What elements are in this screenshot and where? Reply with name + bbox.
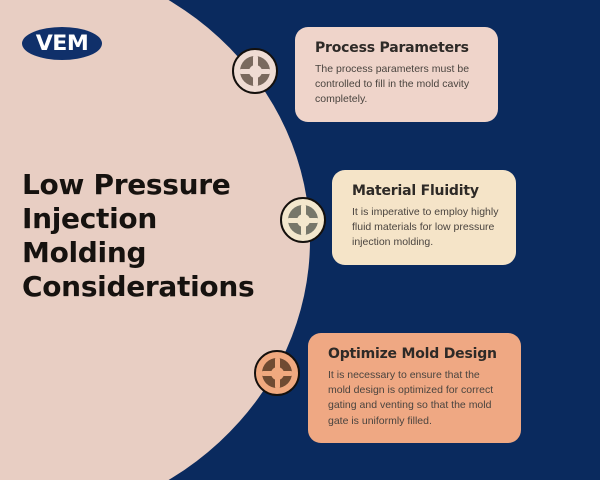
card-title: Optimize Mold Design: [328, 346, 504, 362]
page-title-line-1: Low Pressure: [22, 168, 294, 202]
vem-logo: VEM: [22, 27, 102, 60]
card-material-fluidity: Material Fluidity It is imperative to em…: [332, 170, 516, 265]
page-title-line-2: Injection: [22, 202, 294, 236]
marker-notch-horizontal: [288, 218, 318, 223]
vem-logo-text: VEM: [36, 33, 89, 54]
marker-notch-horizontal: [240, 69, 270, 74]
card-body: The process parameters must be controlle…: [315, 62, 481, 108]
card-optimize-mold-design: Optimize Mold Design It is necessary to …: [308, 333, 521, 443]
card-title: Process Parameters: [315, 40, 481, 56]
page-title: Low Pressure Injection Molding Considera…: [22, 168, 294, 305]
gear-marker-icon-2: [280, 197, 326, 243]
card-body: It is necessary to ensure that the mold …: [328, 368, 504, 429]
marker-ring: [240, 56, 270, 86]
card-title: Material Fluidity: [352, 183, 499, 199]
marker-ring: [262, 358, 292, 388]
gear-marker-icon-1: [232, 48, 278, 94]
card-process-parameters: Process Parameters The process parameter…: [295, 27, 498, 122]
infographic-canvas: VEM Low Pressure Injection Molding Consi…: [0, 0, 600, 480]
gear-marker-icon-3: [254, 350, 300, 396]
page-title-line-3: Molding: [22, 236, 294, 270]
marker-notch-horizontal: [262, 371, 292, 376]
card-body: It is imperative to employ highly fluid …: [352, 205, 499, 251]
page-title-line-4: Considerations: [22, 270, 294, 304]
marker-ring: [288, 205, 318, 235]
